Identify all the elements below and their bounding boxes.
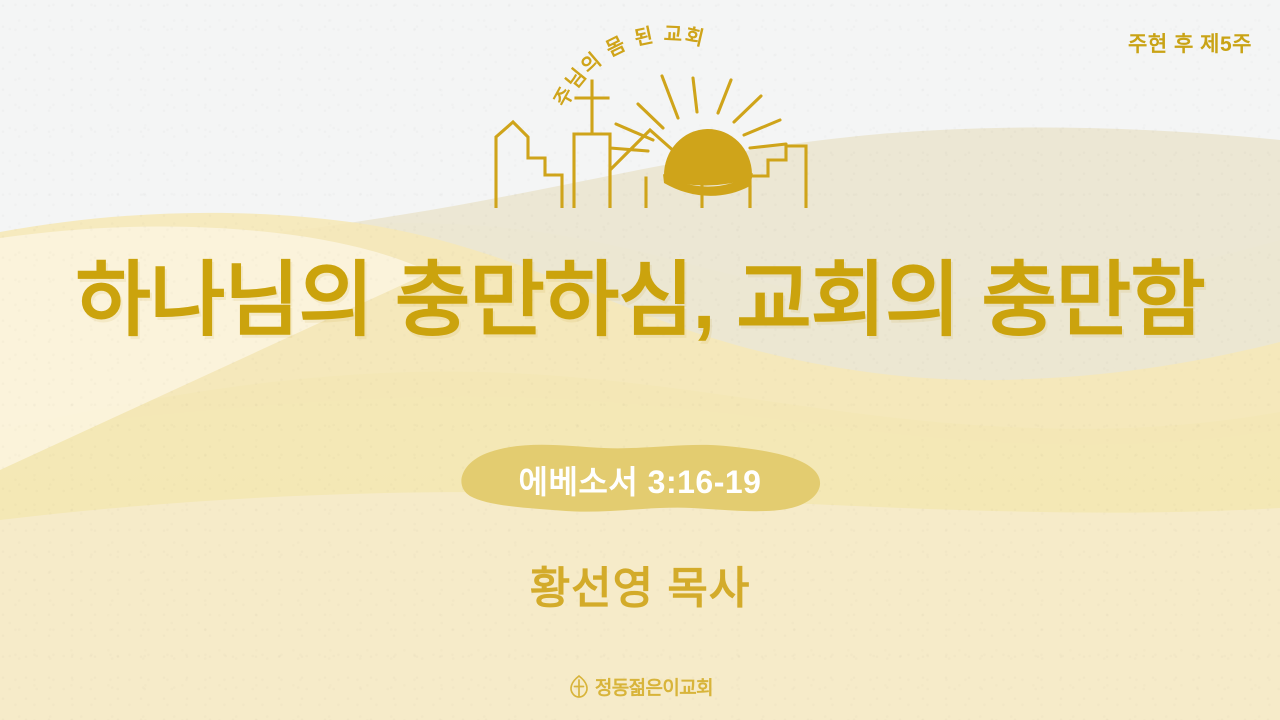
sermon-title-slide: 주현 후 제5주 주님의 몸 된 교회: [0, 0, 1280, 720]
church-tower: [574, 134, 610, 208]
logo-arc-text-span: 주님의 몸 된 교회: [551, 23, 708, 110]
church-name: 정동젊은이교회: [595, 673, 713, 700]
scripture-reference-block: 에베소서 3:16-19: [0, 440, 1280, 518]
speaker-name: 황선영 목사: [0, 552, 1280, 616]
scripture-reference: 에베소서 3:16-19: [519, 457, 762, 503]
skyline-building-left: [496, 122, 562, 208]
skyline-building-right: [750, 146, 806, 208]
sermon-title: 하나님의 충만하심, 교회의 충만함: [0, 258, 1280, 343]
logo-arc-text: 주님의 몸 된 교회: [551, 23, 708, 110]
season-label: 주현 후 제5주: [1128, 28, 1252, 58]
sunrise-disc-icon: [664, 129, 752, 186]
church-logo-mark: 주님의 몸 된 교회: [450, 18, 850, 208]
church-footer: 정동젊은이교회: [0, 673, 1280, 700]
leaf-cross-icon: [567, 674, 591, 700]
